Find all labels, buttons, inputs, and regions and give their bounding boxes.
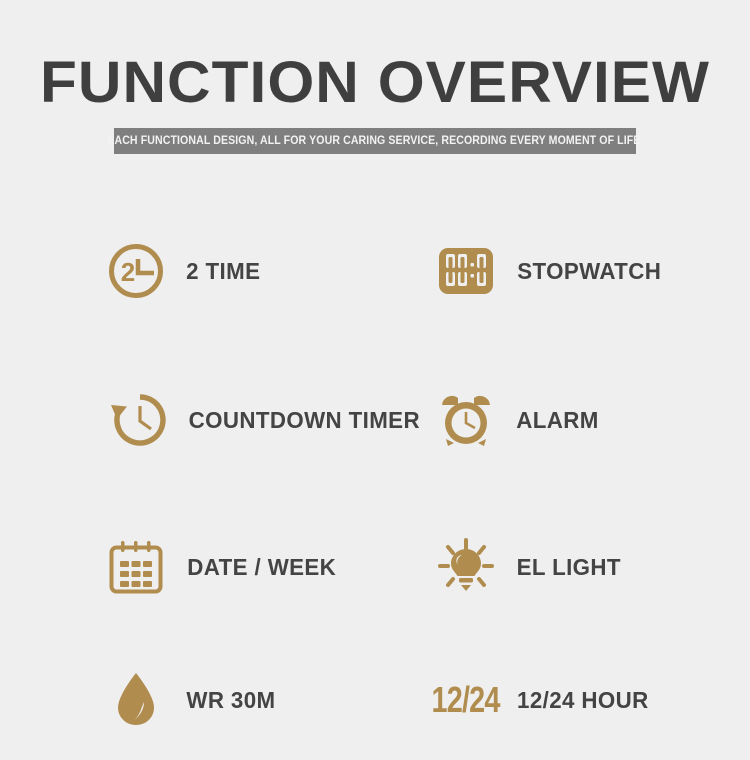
feature-item-countdown-timer: COUNTDOWN TIMER <box>105 346 435 494</box>
feature-label: DATE / WEEK <box>187 554 336 581</box>
feature-label: ALARM <box>516 407 598 434</box>
header: FUNCTION OVERVIEW EACH FUNCTIONAL DESIGN… <box>0 52 750 154</box>
feature-label: WR 30M <box>186 687 275 714</box>
feature-label: 2 TIME <box>186 258 260 285</box>
feature-label: 12/24 HOUR <box>517 687 649 714</box>
function-overview-page: FUNCTION OVERVIEW EACH FUNCTIONAL DESIGN… <box>0 0 750 750</box>
subtitle-bar: EACH FUNCTIONAL DESIGN, ALL FOR YOUR CAR… <box>114 128 636 154</box>
countdown-clock-icon <box>105 389 167 451</box>
feature-item-date-week: DATE / WEEK <box>105 494 435 640</box>
feature-item-alarm: ALARM <box>435 346 705 494</box>
page-title: FUNCTION OVERVIEW <box>0 52 750 114</box>
twelve-twentyfour-icon-text: 12/24 <box>432 679 500 721</box>
feature-item-el-light: EL LIGHT <box>435 494 705 640</box>
alarm-clock-icon <box>435 389 497 451</box>
subtitle-text: EACH FUNCTIONAL DESIGN, ALL FOR YOUR CAR… <box>107 135 643 147</box>
digital-display-icon <box>435 240 497 302</box>
feature-item-2-time: 2 2 TIME <box>105 196 435 346</box>
feature-item-wr-30m: WR 30M <box>105 640 435 760</box>
feature-item-stopwatch: STOPWATCH <box>435 196 705 346</box>
lightbulb-icon <box>435 536 497 598</box>
clock-two-icon: 2 <box>105 240 167 302</box>
svg-text:2: 2 <box>121 257 135 287</box>
feature-label: EL LIGHT <box>517 554 621 581</box>
feature-label: COUNTDOWN TIMER <box>189 407 420 434</box>
feature-label: STOPWATCH <box>517 258 661 285</box>
feature-grid: 2 2 TIME <box>105 196 705 760</box>
water-drop-icon <box>105 669 167 731</box>
twelve-twentyfour-icon: 12/24 <box>435 669 497 731</box>
feature-item-12-24-hour: 12/24 12/24 HOUR <box>435 640 705 760</box>
calendar-icon <box>105 536 167 598</box>
